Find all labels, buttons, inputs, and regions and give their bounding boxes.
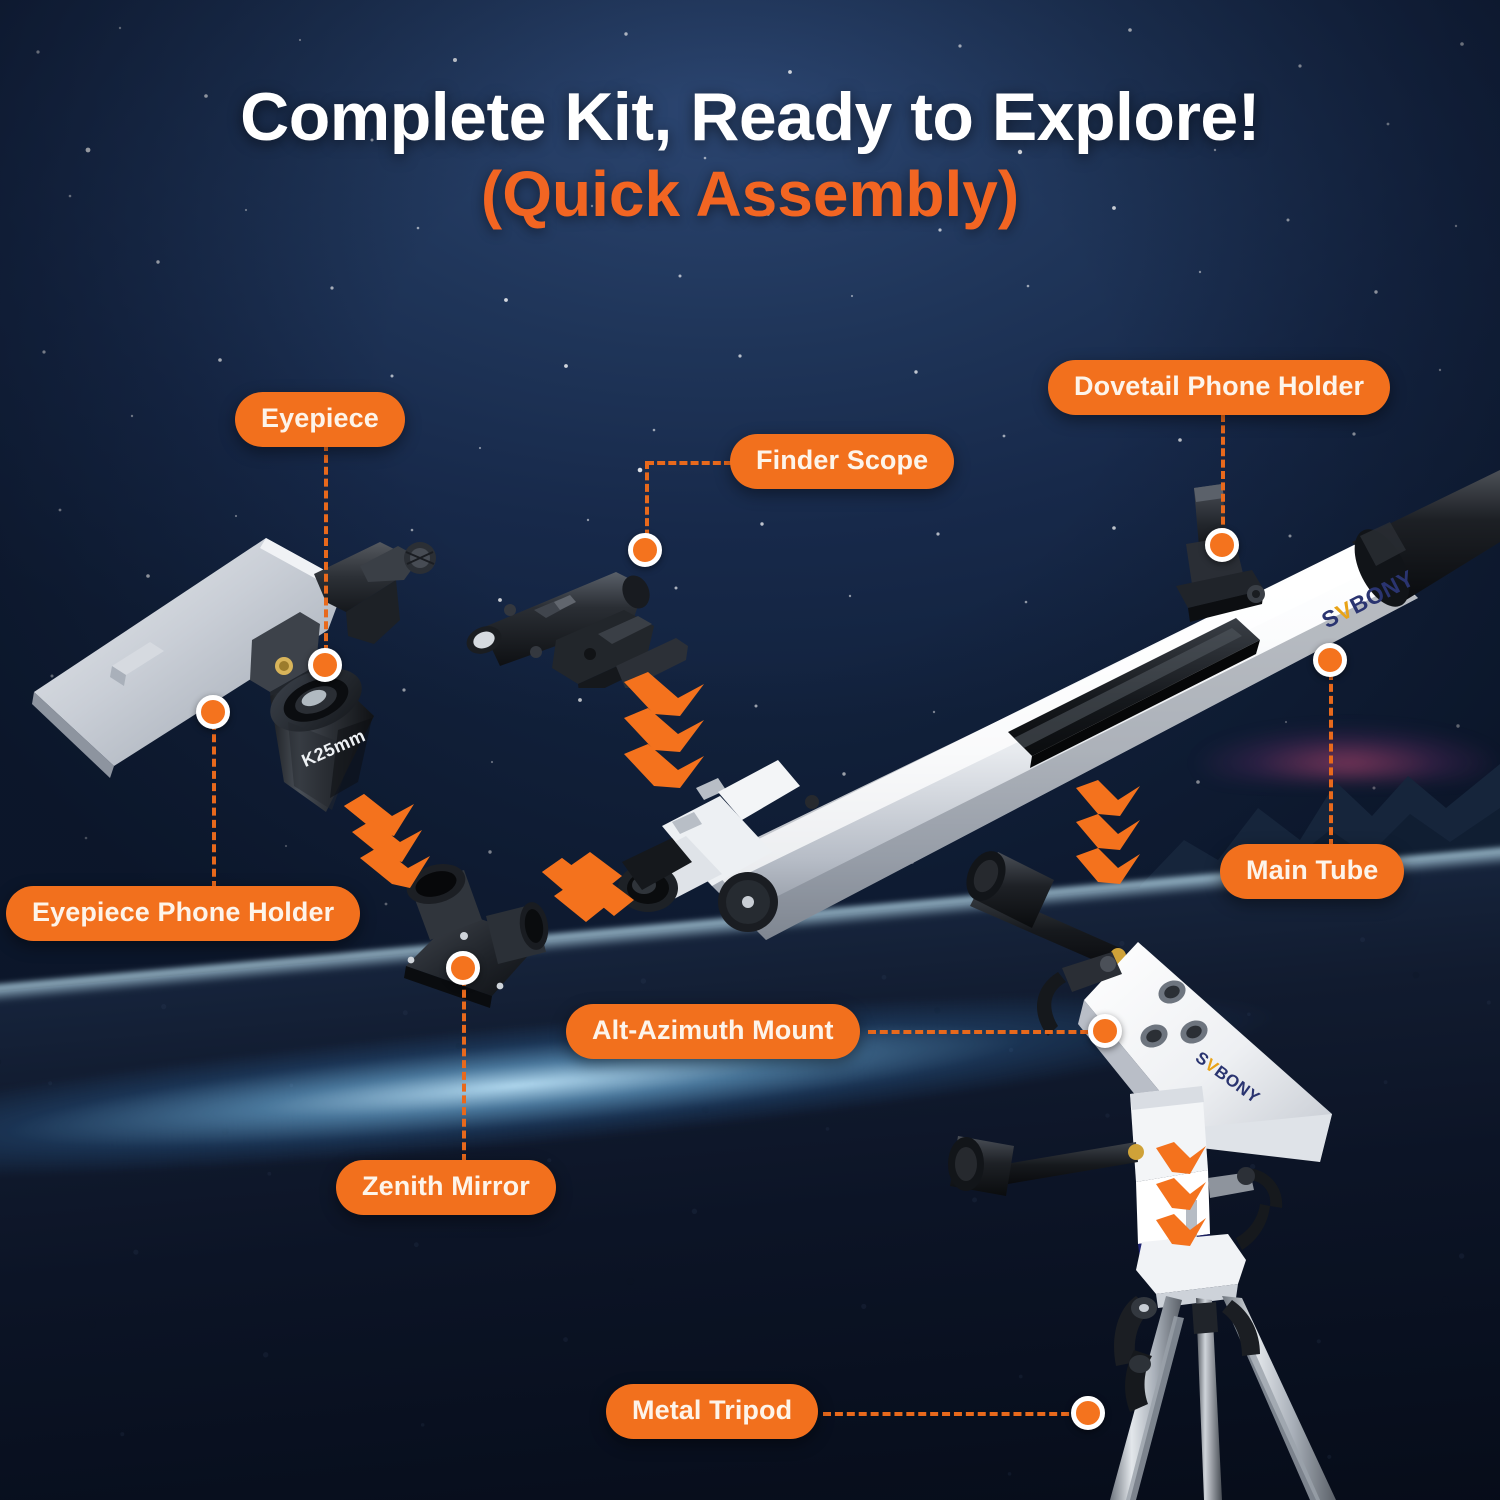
chevron-arrows-finder-to-tube <box>618 672 728 802</box>
marker-dot-zenith-mirror[interactable] <box>446 951 480 985</box>
title-block: Complete Kit, Ready to Explore! (Quick A… <box>0 82 1500 229</box>
leader-line-eyepiece <box>324 443 328 653</box>
callout-eyepiece[interactable]: Eyepiece <box>235 392 405 447</box>
infographic-canvas: Complete Kit, Ready to Explore! (Quick A… <box>0 0 1500 1500</box>
callout-finder-scope[interactable]: Finder Scope <box>730 434 954 489</box>
callout-dovetail-phone-holder[interactable]: Dovetail Phone Holder <box>1048 360 1390 415</box>
leader-line-alt-azimuth-mount <box>868 1030 1100 1034</box>
chevron-arrows-tube-to-mount <box>1072 780 1162 890</box>
callout-main-tube[interactable]: Main Tube <box>1220 844 1404 899</box>
marker-dot-main-tube[interactable] <box>1313 643 1347 677</box>
leader-line-zenith-mirror <box>462 978 466 1162</box>
leader-line-eyepiece-phone-holder <box>212 722 216 889</box>
marker-dot-dovetail-phone-holder[interactable] <box>1205 528 1239 562</box>
leader-line-main-tube <box>1329 672 1333 847</box>
page-title: Complete Kit, Ready to Explore! <box>0 82 1500 153</box>
leader-line-metal-tripod <box>823 1412 1081 1416</box>
chevron-arrows-eyepiece-to-zenith <box>340 790 460 900</box>
marker-dot-metal-tripod[interactable] <box>1071 1396 1105 1430</box>
leader-line-dovetail-phone-holder <box>1221 414 1225 536</box>
chevron-arrows-mount-to-tripod <box>1150 1140 1230 1270</box>
callout-zenith-mirror[interactable]: Zenith Mirror <box>336 1160 556 1215</box>
marker-dot-alt-azimuth-mount[interactable] <box>1088 1014 1122 1048</box>
marker-dot-eyepiece-phone-holder[interactable] <box>196 695 230 729</box>
callout-alt-azimuth-mount[interactable]: Alt-Azimuth Mount <box>566 1004 860 1059</box>
page-subtitle: (Quick Assembly) <box>0 161 1500 228</box>
callout-eyepiece-phone-holder[interactable]: Eyepiece Phone Holder <box>6 886 360 941</box>
marker-dot-finder-scope[interactable] <box>628 533 662 567</box>
chevron-arrows-zenith-to-focuser <box>540 852 650 942</box>
callout-metal-tripod[interactable]: Metal Tripod <box>606 1384 818 1439</box>
leader-line-finder-scope-h <box>646 461 732 465</box>
marker-dot-eyepiece[interactable] <box>308 648 342 682</box>
